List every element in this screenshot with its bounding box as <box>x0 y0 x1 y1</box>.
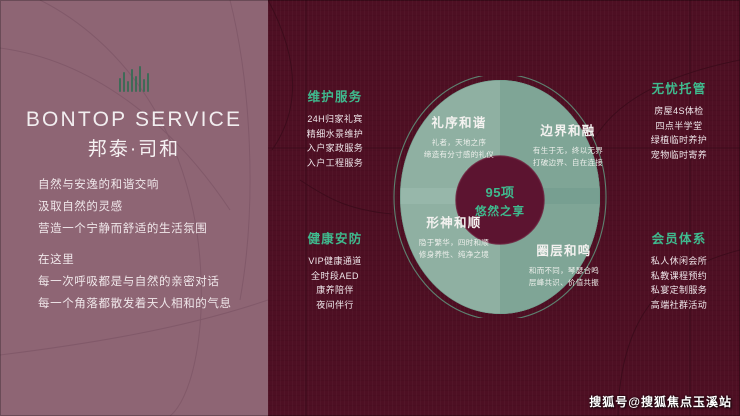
service-item: 精细水景维护 <box>276 127 394 142</box>
service-item: VIP健康通道 <box>276 254 394 269</box>
service-item: 房屋4S体检 <box>620 104 738 119</box>
service-item: 全时段AED <box>276 269 394 284</box>
service-title-hosting: 无忧托管 <box>620 78 738 97</box>
quadrant-title: 礼序和谐 <box>404 112 514 131</box>
left-body-line: 营造一个宁静而舒适的生活氛围 <box>38 218 258 240</box>
watermark: 搜狐号@搜狐焦点玉溪站 <box>589 393 732 410</box>
left-panel: BONTOP SERVICE 邦泰·司和 自然与安逸的和谐交响 汲取自然的灵感 … <box>0 0 268 416</box>
left-body-line: 每一次呼吸都是与自然的亲密对话 <box>38 271 258 293</box>
quadrant-label-top-left: 礼序和谐 礼者，天地之序 缔造有分寸感的礼仪 <box>404 112 514 161</box>
quadrant-label-top-right: 边界和融 有生于无，终以无界 打破边界、自在连接 <box>512 120 624 169</box>
core-number: 95项 <box>486 182 515 201</box>
quadrant-line: 缔造有分寸感的礼仪 <box>404 149 514 161</box>
service-item: 四点半学堂 <box>620 119 738 134</box>
diagram-core-label: 95项 悠然之享 <box>462 168 538 232</box>
service-block-maintenance: 维护服务 24H归家礼宾 精细水景维护 入户家政服务 入户工程服务 <box>276 86 394 170</box>
service-title-maintenance: 维护服务 <box>276 86 394 105</box>
service-item: 入户工程服务 <box>276 156 394 171</box>
left-body-line: 汲取自然的灵感 <box>38 196 258 218</box>
quadrant-line: 修身养性、纯净之境 <box>398 249 510 261</box>
core-subtitle: 悠然之享 <box>475 203 525 219</box>
service-item: 私教课程预约 <box>620 269 738 284</box>
left-body-line: 自然与安逸的和谐交响 <box>38 174 258 196</box>
quadrant-line: 隐于繁华，四时和顺 <box>398 237 510 249</box>
quadrant-title: 边界和融 <box>512 120 624 139</box>
quadrant-line: 层峰共识、价值共振 <box>506 277 622 289</box>
quadrant-line: 礼者，天地之序 <box>404 137 514 149</box>
service-item: 绿植临时养护 <box>620 133 738 148</box>
service-item: 夜间伴行 <box>276 298 394 313</box>
service-block-member: 会员体系 私人休闲会所 私教课程预约 私宴定制服务 高端社群活动 <box>620 228 738 312</box>
brand-title-en: BONTOP SERVICE <box>0 108 268 132</box>
service-item: 宠物临时寄养 <box>620 148 738 163</box>
brand-title-cn: 邦泰·司和 <box>0 134 268 161</box>
left-body-line: 在这里 <box>38 249 258 271</box>
quadrant-line: 和而不同，琴瑟合鸣 <box>506 265 622 277</box>
service-block-health: 健康安防 VIP健康通道 全时段AED 康养陪伴 夜间伴行 <box>276 228 394 312</box>
service-item: 24H归家礼宾 <box>276 112 394 127</box>
decorative-lines-icon <box>119 66 155 92</box>
quadrant-label-bottom-right: 圈层和鸣 和而不同，琴瑟合鸣 层峰共识、价值共振 <box>506 240 622 289</box>
left-panel-body: 自然与安逸的和谐交响 汲取自然的灵感 营造一个宁静而舒适的生活氛围 在这里 每一… <box>38 174 258 315</box>
paragraph-gap <box>38 240 258 249</box>
quadrant-line: 有生于无，终以无界 <box>512 145 624 157</box>
service-item: 私人休闲会所 <box>620 254 738 269</box>
service-title-member: 会员体系 <box>620 228 738 247</box>
service-title-health: 健康安防 <box>276 228 394 247</box>
service-item: 高端社群活动 <box>620 298 738 313</box>
left-body-line: 每一个角落都散发着天人相和的气息 <box>38 293 258 315</box>
service-item: 入户家政服务 <box>276 141 394 156</box>
slide-root: BONTOP SERVICE 邦泰·司和 自然与安逸的和谐交响 汲取自然的灵感 … <box>0 0 740 416</box>
service-item: 康养陪伴 <box>276 283 394 298</box>
quadrant-title: 圈层和鸣 <box>506 240 622 259</box>
service-item: 私宴定制服务 <box>620 283 738 298</box>
service-block-hosting: 无忧托管 房屋4S体检 四点半学堂 绿植临时养护 宠物临时寄养 <box>620 78 738 162</box>
